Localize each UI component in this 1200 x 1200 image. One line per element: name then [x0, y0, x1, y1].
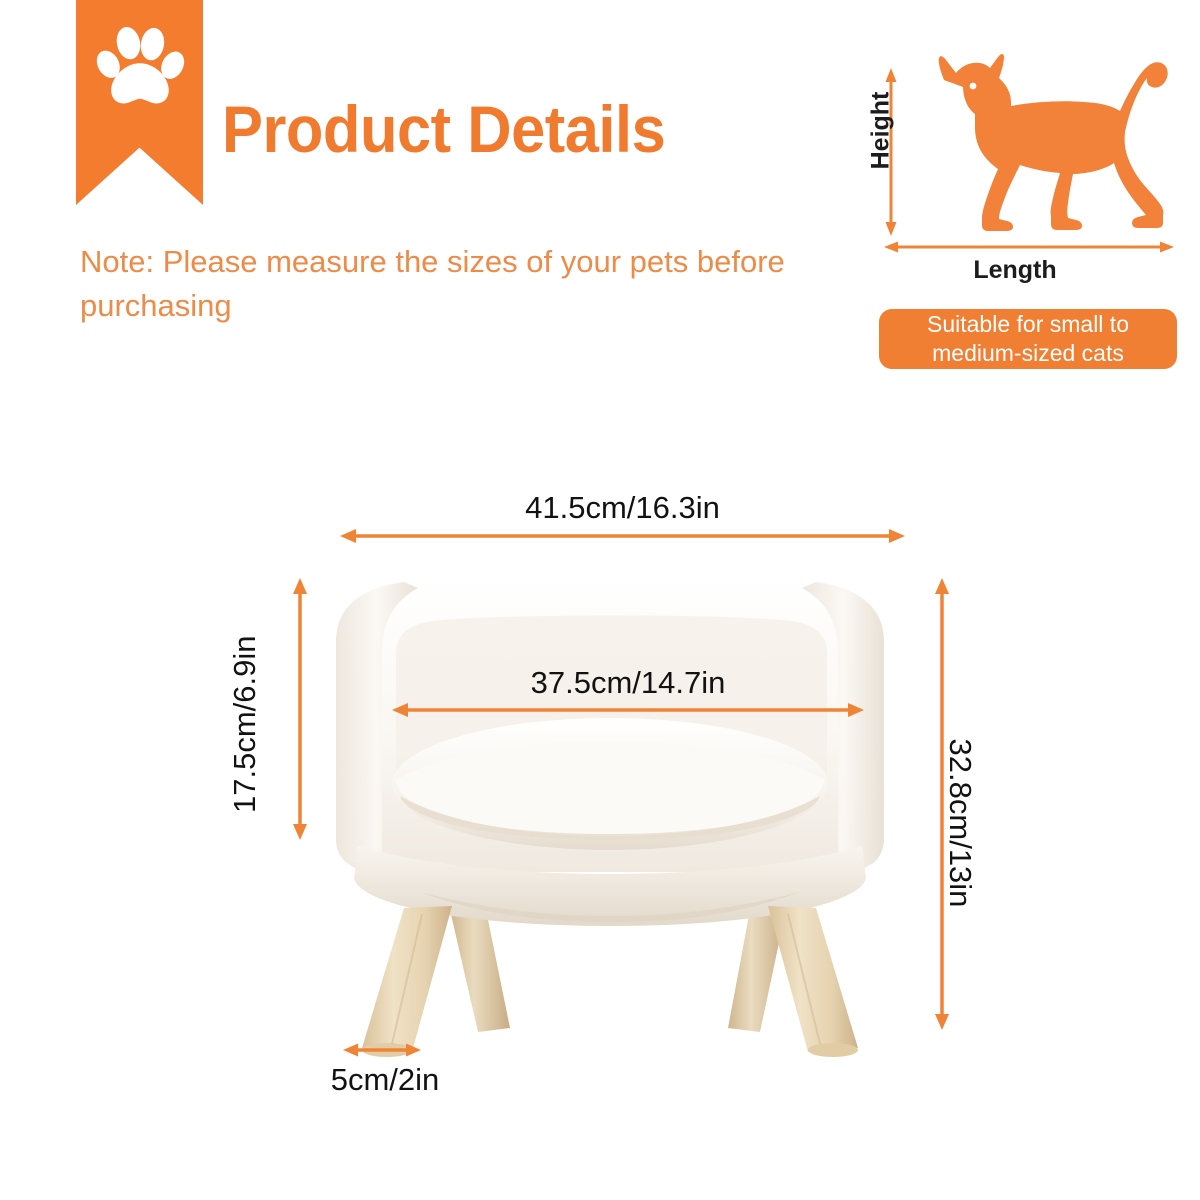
overall-width-arrow [340, 528, 905, 544]
cat-silhouette-icon [880, 32, 1180, 232]
cat-length-arrow [884, 240, 1174, 254]
leg-width-label: 5cm/2in [300, 1062, 470, 1098]
backrest-height-label: 17.5cm/6.9in [227, 643, 263, 813]
paw-print-icon [92, 22, 188, 118]
overall-height-label: 32.8cm/13in [942, 738, 978, 908]
cat-length-label: Length [850, 256, 1180, 285]
overall-width-label: 41.5cm/16.3in [340, 490, 905, 526]
page-title: Product Details [222, 96, 665, 162]
cat-height-label: Height [866, 92, 895, 170]
backrest-height-arrow [292, 578, 308, 840]
product-details-infographic: Product Details Note: Please measure the… [0, 0, 1200, 1200]
inner-width-label: 37.5cm/14.7in [392, 665, 864, 701]
product-measurement-diagram: 41.5cm/16.3in 37.5cm/14.7in 17.5cm/6.9in [0, 440, 1200, 1140]
leg-width-arrow [343, 1042, 421, 1058]
cat-size-diagram: Height Length [850, 24, 1180, 284]
inner-width-arrow [392, 702, 864, 718]
measure-note: Note: Please measure the sizes of your p… [80, 240, 840, 328]
pet-sofa-product-image [300, 558, 920, 1058]
status-badge: Suitable for small to medium-sized cats [879, 309, 1177, 369]
